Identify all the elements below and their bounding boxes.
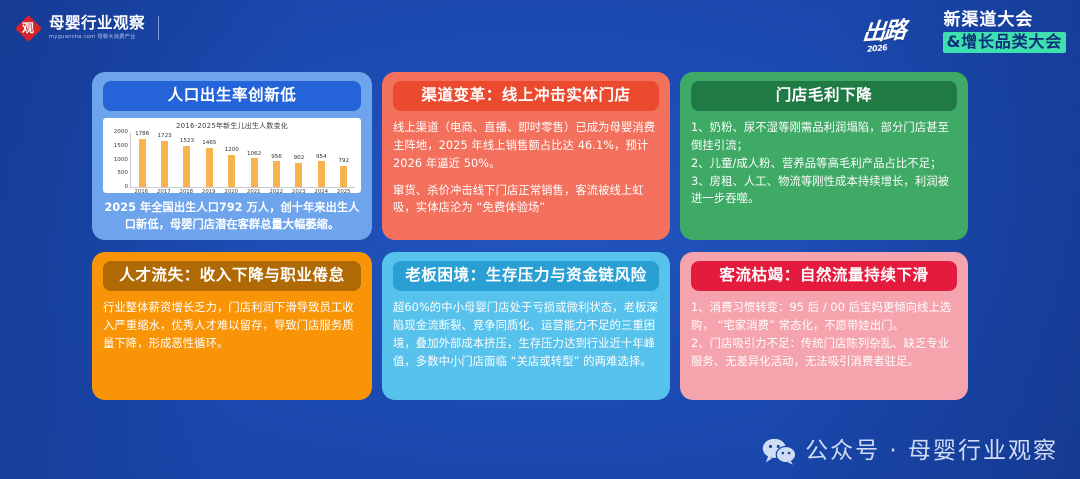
chart-bar <box>318 161 325 187</box>
card-paragraph: 线上渠道（电商、直播、即时零售）已成为母婴消费主阵地，2025 年线上销售额占比… <box>393 119 659 173</box>
card-channel-reform[interactable]: 渠道变革：线上冲击实体门店 线上渠道（电商、直播、即时零售）已成为母婴消费主阵地… <box>382 72 670 240</box>
chart-bar-group: 902 <box>289 133 309 187</box>
chart-plot-area: 2000 1500 1000 500 0 1786172315231465120… <box>109 133 355 188</box>
chart-bar <box>295 163 302 187</box>
y-tick: 1000 <box>114 158 128 164</box>
chart-x-tick: 2016 <box>131 190 151 195</box>
conference-logo: 出路 2026 新渠道大会 &增长品类大会 <box>863 9 1066 55</box>
card-title: 门店毛利下降 <box>691 81 957 111</box>
chart-bars: 178617231523146512001062956902954792 <box>131 133 355 187</box>
card-title: 客流枯竭：自然流量持续下滑 <box>691 261 957 291</box>
card-paragraph: 1、消费习惯转变：95 后 / 00 后宝妈更倾向线上选购， “宅家消费” 常态… <box>691 299 957 335</box>
chart-bar-value: 954 <box>316 155 327 161</box>
chart-bar <box>228 155 235 187</box>
chart-bar-value: 792 <box>338 159 349 165</box>
conference-title-lines: 新渠道大会 &增长品类大会 <box>943 11 1066 54</box>
card-body: 1、消费习惯转变：95 后 / 00 后宝妈更倾向线上选购， “宅家消费” 常态… <box>691 299 957 370</box>
card-body: 超60%的中小母婴门店处于亏损或微利状态，老板深陷现金流断裂、竞争同质化、运营能… <box>393 299 659 370</box>
card-birth-rate[interactable]: 人口出生率创新低 2016-2025年新生儿出生人数变化 2000 1500 1… <box>92 72 372 240</box>
chart-bar-value: 1523 <box>180 139 194 145</box>
chart-x-tick: 2019 <box>199 190 219 195</box>
chart-bar-value: 1786 <box>135 132 149 138</box>
card-paragraph: 1、奶粉、尿不湿等刚需品利润塌陷，部分门店甚至倒挂引流； <box>691 119 957 155</box>
card-paragraph: 行业整体薪资增长乏力，门店利润下滑导致员工收入严重缩水，优秀人才难以留存，导致门… <box>103 299 361 353</box>
chart-bar <box>183 146 190 187</box>
card-talent-loss[interactable]: 人才流失：收入下降与职业倦怠 行业整体薪资增长乏力，门店利润下滑导致员工收入严重… <box>92 252 372 400</box>
card-traffic-decline[interactable]: 客流枯竭：自然流量持续下滑 1、消费习惯转变：95 后 / 00 后宝妈更倾向线… <box>680 252 968 400</box>
y-tick: 1500 <box>114 144 128 150</box>
brand-text: 母婴行业观察 myguancha.com 母婴大消费产业 <box>49 16 145 40</box>
card-paragraph: 2、儿童/成人粉、营养品等高毛利产品占比不足； <box>691 155 957 173</box>
card-grid: 人口出生率创新低 2016-2025年新生儿出生人数变化 2000 1500 1… <box>92 72 988 400</box>
chart-bar <box>273 161 280 187</box>
card-body: 1、奶粉、尿不湿等刚需品利润塌陷，部分门店甚至倒挂引流； 2、儿童/成人粉、营养… <box>691 119 957 208</box>
card-body: 行业整体薪资增长乏力，门店利润下滑导致员工收入严重缩水，优秀人才难以留存，导致门… <box>103 299 361 353</box>
conference-title-line1: 新渠道大会 <box>943 11 1066 30</box>
chart-x-tick: 2023 <box>289 190 309 195</box>
card-gross-margin[interactable]: 门店毛利下降 1、奶粉、尿不湿等刚需品利润塌陷，部分门店甚至倒挂引流； 2、儿童… <box>680 72 968 240</box>
birth-chart: 2016-2025年新生儿出生人数变化 2000 1500 1000 500 0… <box>103 118 361 193</box>
y-tick: 2000 <box>114 130 128 136</box>
chart-bar <box>161 141 168 188</box>
chart-bar-group: 1200 <box>222 133 242 187</box>
card-title: 人才流失：收入下降与职业倦怠 <box>103 261 361 291</box>
card-paragraph: 窜货、杀价冲击线下门店正常销售，客流被线上虹吸，实体店沦为 “免费体验场” <box>393 182 659 218</box>
card-paragraph: 3、房租、人工、物流等刚性成本持续增长，利润被进一步吞噬。 <box>691 173 957 209</box>
chart-bar-value: 1465 <box>202 141 216 147</box>
conference-calligraphy-text: 出路 <box>862 9 938 48</box>
chart-x-tick: 2021 <box>244 190 264 195</box>
conference-calligraphy-icon: 出路 2026 <box>863 9 935 55</box>
chart-bar-value: 1062 <box>247 152 261 158</box>
chart-bar-group: 1523 <box>177 133 197 187</box>
chart-bar-group: 1723 <box>155 133 175 187</box>
chart-bar-value: 1200 <box>225 148 239 154</box>
chart-y-axis: 2000 1500 1000 500 0 <box>109 133 130 188</box>
chart-bar-group: 1465 <box>199 133 219 187</box>
conference-year: 2026 <box>867 43 888 54</box>
chart-bar-value: 902 <box>294 156 305 162</box>
chart-x-tick: 2018 <box>176 190 196 195</box>
slide-canvas: 观 母婴行业观察 myguancha.com 母婴大消费产业 出路 2026 新… <box>0 0 1080 479</box>
card-paragraph: 2、门店吸引力不足：传统门店陈列杂乱、缺乏专业服务、无差异化活动，无法吸引消费者… <box>691 335 957 371</box>
wechat-icon <box>762 438 796 465</box>
card-title: 渠道变革：线上冲击实体门店 <box>393 81 659 111</box>
chart-bar-group: 1062 <box>244 133 264 187</box>
brand-mark-glyph: 观 <box>14 14 42 42</box>
chart-bar-value: 1723 <box>157 134 171 140</box>
chart-bars-container: 178617231523146512001062956902954792 <box>130 133 355 188</box>
card-owner-dilemma[interactable]: 老板困境：生存压力与资金链风险 超60%的中小母婴门店处于亏损或微利状态，老板深… <box>382 252 670 400</box>
chart-bar <box>206 148 213 188</box>
chart-x-tick: 2024 <box>311 190 331 195</box>
y-tick: 500 <box>117 172 128 178</box>
chart-x-tick: 2020 <box>221 190 241 195</box>
card-note: 2025 年全国出生人口792 万人，创十年来出生人口新低，母婴门店潜在客群总量… <box>103 200 361 234</box>
chart-bar-group: 954 <box>311 133 331 187</box>
brand-subtitle: myguancha.com 母婴大消费产业 <box>49 35 145 40</box>
brand-divider <box>158 16 159 40</box>
brand-name: 母婴行业观察 <box>49 16 145 32</box>
card-title: 人口出生率创新低 <box>103 81 361 111</box>
conference-title-line2: &增长品类大会 <box>943 32 1066 53</box>
wechat-label: 公众号 · 母婴行业观察 <box>805 440 1058 463</box>
card-body: 线上渠道（电商、直播、即时零售）已成为母婴消费主阵地，2025 年线上销售额占比… <box>393 119 659 217</box>
chart-bar-group: 1786 <box>132 133 152 187</box>
brand-logo: 观 母婴行业观察 myguancha.com 母婴大消费产业 <box>14 14 159 42</box>
chart-bar <box>139 139 146 187</box>
wechat-footer: 公众号 · 母婴行业观察 <box>762 438 1058 465</box>
chart-x-tick: 2025 <box>334 190 354 195</box>
card-title: 老板困境：生存压力与资金链风险 <box>393 261 659 291</box>
chart-x-axis: 2016201720182019202020212022202320242025 <box>130 188 355 195</box>
chart-x-tick: 2017 <box>154 190 174 195</box>
chart-bar <box>340 166 347 187</box>
chart-bar-value: 956 <box>271 155 282 161</box>
card-paragraph: 超60%的中小母婴门店处于亏损或微利状态，老板深陷现金流断裂、竞争同质化、运营能… <box>393 299 659 370</box>
chart-bar <box>251 158 258 187</box>
chart-title: 2016-2025年新生儿出生人数变化 <box>109 123 355 130</box>
chart-bar-group: 792 <box>334 133 354 187</box>
y-tick: 0 <box>124 185 128 191</box>
brand-diamond-icon: 观 <box>14 14 42 42</box>
chart-x-tick: 2022 <box>266 190 286 195</box>
chart-bar-group: 956 <box>266 133 286 187</box>
